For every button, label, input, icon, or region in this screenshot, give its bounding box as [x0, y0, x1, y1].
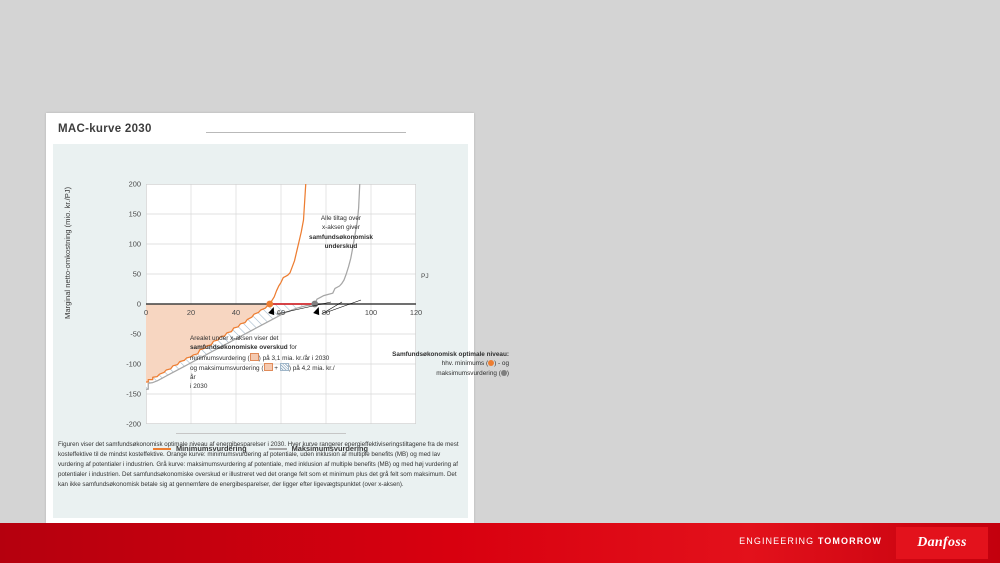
y-tick--50: -50 — [130, 330, 141, 339]
x-tick-0: 0 — [144, 308, 148, 317]
y-axis-label: Marginal netto-omkostning (mio. kr./PJ) — [63, 187, 72, 319]
x-tick-20: 20 — [187, 308, 195, 317]
danfoss-logo: Danfoss — [896, 527, 988, 559]
hatch-area-swatch — [280, 363, 289, 371]
title-divider — [206, 132, 406, 133]
annotation-areal: Arealet under x-aksen viser det samfunds… — [190, 334, 340, 392]
caption-divider — [176, 433, 346, 434]
x-tick-100: 100 — [365, 308, 377, 317]
annotation-underskud-line2: x-aksen giver — [322, 224, 360, 231]
annotation-niveau-line3b: ) — [507, 370, 509, 377]
x-tick-80: 80 — [322, 308, 330, 317]
annotation-underskud-line4: underskud — [325, 243, 358, 250]
danfoss-logo-text: Danfoss — [917, 535, 967, 551]
x-axis-unit-label: PJ — [421, 273, 429, 280]
annotation-areal-line4a: og maksimumsvurdering ( — [190, 365, 264, 372]
footer-tagline-light: ENGINEERING — [739, 536, 814, 546]
annotation-areal-line3b: ) på 3,1 mia. kr./år i 2030 — [259, 355, 330, 362]
orange-area-swatch-2 — [264, 363, 273, 371]
annotation-areal-line2: samfundsøkonomiske overskud — [190, 344, 288, 351]
annotation-areal-line1: Arealet under x-aksen viser det — [190, 335, 278, 342]
annotation-niveau-line1: Samfundsøkonomisk optimale niveau: — [392, 351, 509, 358]
orange-area-swatch — [250, 353, 259, 361]
y-tick-100: 100 — [129, 240, 141, 249]
annotation-areal-line5: i 2030 — [190, 383, 207, 390]
annotation-niveau-line2b: ) - og — [494, 360, 509, 367]
annotation-niveau-line2a: hhv. minimums ( — [442, 360, 488, 367]
x-tick-120: 120 — [410, 308, 422, 317]
x-tick-40: 40 — [232, 308, 240, 317]
annotation-areal-line4b: + — [273, 365, 280, 372]
x-tick-60: 60 — [277, 308, 285, 317]
page-title: MAC-kurve 2030 — [58, 123, 152, 135]
annotation-underskud: Alle tiltag over x-aksen giver samfundsø… — [296, 214, 386, 251]
y-tick-50: 50 — [133, 270, 141, 279]
annotation-niveau: Samfundsøkonomisk optimale niveau: hhv. … — [353, 350, 509, 378]
y-tick--200: -200 — [126, 420, 141, 429]
figure-caption: Figuren viser det samfundsøkonomisk opti… — [58, 440, 462, 490]
y-tick-0: 0 — [137, 300, 141, 309]
annotation-niveau-line3a: maksimumsvurdering ( — [436, 370, 501, 377]
y-tick--100: -100 — [126, 360, 141, 369]
annotation-areal-line3a: minimumsvurdering ( — [190, 355, 250, 362]
y-tick--150: -150 — [126, 390, 141, 399]
annotation-areal-line2b: for — [288, 344, 297, 351]
annotation-underskud-line1: Alle tiltag over — [321, 215, 361, 222]
brand-footer: ENGINEERING TOMORROW Danfoss — [0, 523, 1000, 563]
slide-card: MAC-kurve 2030 Marginal netto-omkostning… — [46, 113, 474, 523]
footer-tagline-bold: TOMORROW — [818, 536, 882, 546]
y-tick-150: 150 — [129, 210, 141, 219]
footer-tagline: ENGINEERING TOMORROW — [739, 536, 882, 546]
annotation-underskud-line3: samfundsøkonomisk — [309, 234, 373, 241]
y-tick-200: 200 — [129, 180, 141, 189]
